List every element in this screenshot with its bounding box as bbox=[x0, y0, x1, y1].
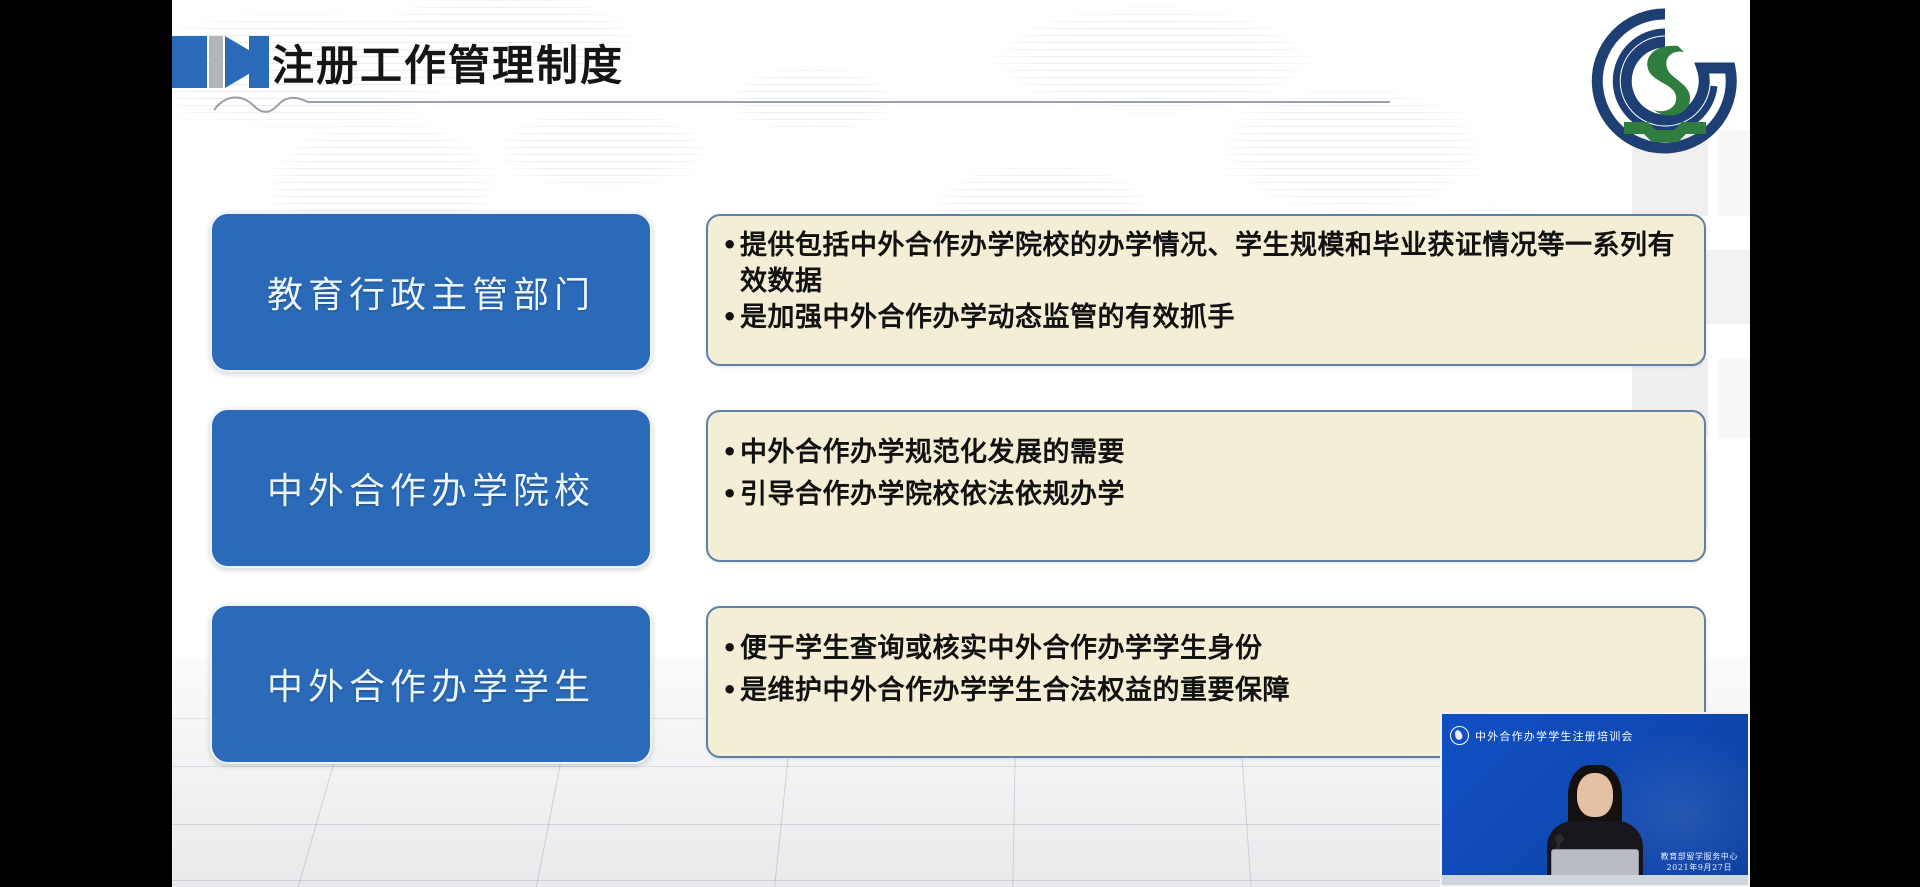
content-row: 中外合作办学院校 中外合作办学规范化发展的需要 引导合作办学院校依法依规办学 bbox=[210, 408, 1710, 568]
category-label: 教育行政主管部门 bbox=[267, 266, 595, 318]
bullet-item: 引导合作办学院校依法依规办学 bbox=[722, 474, 1690, 516]
category-pill-2[interactable]: 中外合作办学院校 bbox=[210, 408, 652, 568]
speaker-head bbox=[1577, 773, 1613, 817]
letterbox-right bbox=[1750, 0, 1920, 887]
category-label: 中外合作办学院校 bbox=[267, 462, 595, 514]
content-row: 教育行政主管部门 提供包括中外合作办学院校的办学情况、学生规模和毕业获证情况等一… bbox=[210, 212, 1710, 372]
category-label: 中外合作办学学生 bbox=[267, 658, 595, 710]
video-player-screen: 注册工作管理制度 教育行政主管部门 bbox=[0, 0, 1920, 887]
bullet-item: 便于学生查询或核实中外合作办学学生身份 bbox=[722, 628, 1690, 670]
category-pill-1[interactable]: 教育行政主管部门 bbox=[210, 212, 652, 372]
letterbox-left bbox=[0, 0, 172, 887]
bullet-item: 提供包括中外合作办学院校的办学情况、学生规模和毕业获证情况等一系列有效数据 bbox=[722, 228, 1690, 300]
cscse-small-logo-icon bbox=[1450, 726, 1469, 745]
bullet-item: 是加强中外合作办学动态监管的有效抓手 bbox=[722, 300, 1690, 336]
bullet-item: 是维护中外合作办学学生合法权益的重要保障 bbox=[722, 670, 1690, 712]
pip-credit: 教育部留学服务中心 2021年9月27日 bbox=[1661, 851, 1738, 873]
detail-panel-2: 中外合作办学规范化发展的需要 引导合作办学院校依法依规办学 bbox=[706, 410, 1706, 562]
pip-credit-org: 教育部留学服务中心 bbox=[1661, 851, 1738, 862]
pip-banner-title: 中外合作办学学生注册培训会 bbox=[1475, 728, 1634, 744]
bullet-item: 中外合作办学规范化发展的需要 bbox=[722, 432, 1690, 474]
speaker-figure bbox=[1535, 765, 1655, 885]
pip-banner: 中外合作办学学生注册培训会 bbox=[1450, 726, 1740, 745]
speaker-video-overlay[interactable]: 中外合作办学学生注册培训会 教育部留学服务中心 2021年9月27日 bbox=[1440, 712, 1750, 887]
pip-credit-date: 2021年9月27日 bbox=[1661, 862, 1738, 873]
detail-panel-1: 提供包括中外合作办学院校的办学情况、学生规模和毕业获证情况等一系列有效数据 是加… bbox=[706, 214, 1706, 366]
desk-surface bbox=[1442, 875, 1748, 885]
category-pill-3[interactable]: 中外合作办学学生 bbox=[210, 604, 652, 764]
